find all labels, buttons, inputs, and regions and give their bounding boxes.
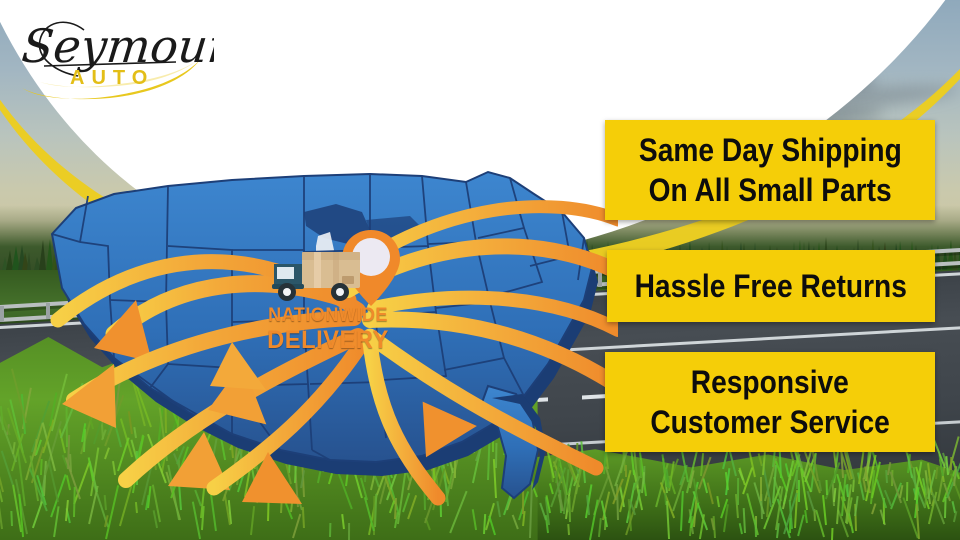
grass-blade: [825, 480, 827, 495]
nationwide-delivery-label: NATIONWIDE DELIVERY: [258, 306, 398, 353]
banner-3-line-2: Customer Service: [650, 406, 889, 439]
grass-blade: [944, 497, 947, 518]
grass-blade: [831, 528, 833, 540]
banner-1-line-2: On All Small Parts: [648, 174, 891, 207]
grass-blade: [754, 520, 757, 537]
logo-svg: Seymour AUTO: [14, 10, 214, 102]
banner-2-line-1: Hassle Free Returns: [635, 270, 907, 303]
grass-blade: [624, 465, 626, 477]
feature-banner-responsive-customer-service[interactable]: Responsive Customer Service: [605, 352, 935, 452]
delivery-truck-icon: [270, 248, 365, 304]
grass-blade: [329, 523, 331, 537]
grass-blade: [348, 523, 350, 540]
delivery-line: DELIVERY: [262, 328, 395, 353]
guardrail-post: [0, 306, 4, 322]
seymour-auto-logo[interactable]: Seymour AUTO: [14, 10, 214, 102]
banner-1-line-1: Same Day Shipping: [639, 134, 902, 167]
nationwide-line: NATIONWIDE: [262, 306, 395, 325]
logo-sub-wordmark: AUTO: [70, 67, 154, 89]
feature-banner-same-day-shipping[interactable]: Same Day Shipping On All Small Parts: [605, 120, 935, 220]
grass-blade: [737, 478, 739, 505]
banner-3-line-1: Responsive: [691, 366, 849, 399]
promo-banner-stage: NATIONWIDE DELIVERY Same Day Shipping On…: [0, 0, 960, 540]
feature-banner-hassle-free-returns[interactable]: Hassle Free Returns: [607, 250, 935, 322]
